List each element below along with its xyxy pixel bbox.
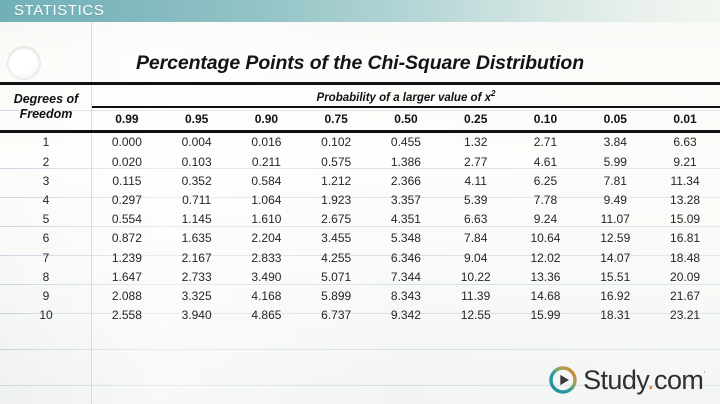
table-cell: 23.21 bbox=[650, 306, 720, 325]
table-cell: 1.610 bbox=[232, 210, 302, 229]
column-header-7: 0.05 bbox=[580, 107, 650, 132]
table-cell: 1.647 bbox=[92, 267, 162, 286]
table-cell: 11.39 bbox=[441, 286, 511, 305]
table-cell: 2.77 bbox=[441, 152, 511, 171]
table-cell: 1.064 bbox=[232, 190, 302, 209]
table-header-spanner-row: Degrees of Freedom Probability of a larg… bbox=[0, 84, 720, 107]
table-cell: 18.48 bbox=[650, 248, 720, 267]
table-cell: 15.09 bbox=[650, 210, 720, 229]
logo-dot: . bbox=[647, 365, 654, 395]
table-cell: 3.940 bbox=[162, 306, 232, 325]
table-row: 20.0200.1030.2110.5751.3862.774.615.999.… bbox=[0, 152, 720, 171]
table-cell: 6.737 bbox=[301, 306, 371, 325]
table-head: Degrees of Freedom Probability of a larg… bbox=[0, 84, 720, 132]
banner-label: STATISTICS bbox=[14, 2, 104, 19]
table-cell: 0.711 bbox=[162, 190, 232, 209]
table-cell: 6.63 bbox=[441, 210, 511, 229]
chi-square-table: Degrees of Freedom Probability of a larg… bbox=[0, 82, 720, 325]
table-cell: 9.49 bbox=[580, 190, 650, 209]
table-cell: 0.115 bbox=[92, 171, 162, 190]
table-cell: 2.733 bbox=[162, 267, 232, 286]
table-cell: 6.63 bbox=[650, 131, 720, 152]
paper-rule-line bbox=[0, 349, 720, 350]
table-cell: 18.31 bbox=[580, 306, 650, 325]
table-cell: 5.899 bbox=[301, 286, 371, 305]
table-cell: 1.635 bbox=[162, 229, 232, 248]
table-cell: 7.81 bbox=[580, 171, 650, 190]
statistics-banner: STATISTICS bbox=[0, 0, 720, 22]
table-column-header-row: 0.99 0.95 0.90 0.75 0.50 0.25 0.10 0.05 … bbox=[0, 107, 720, 132]
table-cell: 0.102 bbox=[301, 131, 371, 152]
table-cell: 8.343 bbox=[371, 286, 441, 305]
table-cell: 0.297 bbox=[92, 190, 162, 209]
table-cell: 4.168 bbox=[232, 286, 302, 305]
table-cell: 7.344 bbox=[371, 267, 441, 286]
table-cell: 5.99 bbox=[580, 152, 650, 171]
table-row: 71.2392.1672.8334.2556.3469.0412.0214.07… bbox=[0, 248, 720, 267]
probability-spanner-text: Probability of a larger value of x bbox=[317, 92, 491, 104]
column-header-3: 0.75 bbox=[301, 107, 371, 132]
table-body: 10.0000.0040.0160.1020.4551.322.713.846.… bbox=[0, 131, 720, 324]
logo-tld: com bbox=[654, 365, 703, 395]
degrees-of-freedom-header: Degrees of Freedom bbox=[0, 84, 92, 132]
table-cell: 2.675 bbox=[301, 210, 371, 229]
degrees-of-freedom-header-line1: Degrees of bbox=[2, 92, 90, 107]
table-cell: 3.325 bbox=[162, 286, 232, 305]
table-cell: 16.81 bbox=[650, 229, 720, 248]
column-header-6: 0.10 bbox=[511, 107, 581, 132]
table-cell: 3.357 bbox=[371, 190, 441, 209]
table-cell: 2.088 bbox=[92, 286, 162, 305]
column-header-2: 0.90 bbox=[232, 107, 302, 132]
table-cell: 0.103 bbox=[162, 152, 232, 171]
table-cell: 2.71 bbox=[511, 131, 581, 152]
table-cell: 2.167 bbox=[162, 248, 232, 267]
table-cell: 3.84 bbox=[580, 131, 650, 152]
table-cell: 4.11 bbox=[441, 171, 511, 190]
degrees-of-freedom-cell: 9 bbox=[0, 286, 92, 305]
table-cell: 0.584 bbox=[232, 171, 302, 190]
logo-trademark: ˙ bbox=[703, 371, 706, 382]
table-cell: 0.575 bbox=[301, 152, 371, 171]
table-row: 40.2970.7111.0641.9233.3575.397.789.4913… bbox=[0, 190, 720, 209]
table-cell: 12.55 bbox=[441, 306, 511, 325]
play-circle-icon bbox=[548, 365, 578, 395]
logo-name: Study bbox=[583, 365, 647, 395]
table-title: Percentage Points of the Chi-Square Dist… bbox=[0, 52, 720, 82]
table-cell: 14.07 bbox=[580, 248, 650, 267]
table-cell: 2.366 bbox=[371, 171, 441, 190]
table-row: 102.5583.9404.8656.7379.34212.5515.9918.… bbox=[0, 306, 720, 325]
study-com-logo: Study.com˙ bbox=[548, 365, 706, 395]
table-cell: 21.67 bbox=[650, 286, 720, 305]
table-cell: 1.923 bbox=[301, 190, 371, 209]
probability-spanner-header: Probability of a larger value of x2 bbox=[92, 84, 720, 107]
table-cell: 2.833 bbox=[232, 248, 302, 267]
table-cell: 3.490 bbox=[232, 267, 302, 286]
column-header-5: 0.25 bbox=[441, 107, 511, 132]
table-cell: 4.865 bbox=[232, 306, 302, 325]
screenshot-root: STATISTICS Percentage Points of the Chi-… bbox=[0, 0, 720, 404]
table-cell: 1.145 bbox=[162, 210, 232, 229]
degrees-of-freedom-cell: 6 bbox=[0, 229, 92, 248]
table-cell: 0.352 bbox=[162, 171, 232, 190]
table-cell: 12.59 bbox=[580, 229, 650, 248]
table-cell: 1.386 bbox=[371, 152, 441, 171]
table-row: 81.6472.7333.4905.0717.34410.2213.3615.5… bbox=[0, 267, 720, 286]
table-cell: 2.204 bbox=[232, 229, 302, 248]
table-cell: 15.99 bbox=[511, 306, 581, 325]
degrees-of-freedom-cell: 5 bbox=[0, 210, 92, 229]
logo-wordmark: Study.com˙ bbox=[583, 367, 706, 394]
table-cell: 9.21 bbox=[650, 152, 720, 171]
table-cell: 0.000 bbox=[92, 131, 162, 152]
table-cell: 1.239 bbox=[92, 248, 162, 267]
table-row: 60.8721.6352.2043.4555.3487.8410.6412.59… bbox=[0, 229, 720, 248]
table-row: 50.5541.1451.6102.6754.3516.639.2411.071… bbox=[0, 210, 720, 229]
table-cell: 1.32 bbox=[441, 131, 511, 152]
table-cell: 10.64 bbox=[511, 229, 581, 248]
table-cell: 0.016 bbox=[232, 131, 302, 152]
column-header-1: 0.95 bbox=[162, 107, 232, 132]
table-cell: 13.36 bbox=[511, 267, 581, 286]
table-row: 92.0883.3254.1685.8998.34311.3914.6816.9… bbox=[0, 286, 720, 305]
table-cell: 11.34 bbox=[650, 171, 720, 190]
table-cell: 15.51 bbox=[580, 267, 650, 286]
table-cell: 10.22 bbox=[441, 267, 511, 286]
column-header-0: 0.99 bbox=[92, 107, 162, 132]
table-cell: 13.28 bbox=[650, 190, 720, 209]
table-row: 10.0000.0040.0160.1020.4551.322.713.846.… bbox=[0, 131, 720, 152]
degrees-of-freedom-cell: 3 bbox=[0, 171, 92, 190]
probability-spanner-superscript: 2 bbox=[491, 89, 495, 98]
degrees-of-freedom-cell: 10 bbox=[0, 306, 92, 325]
chi-square-table-block: Percentage Points of the Chi-Square Dist… bbox=[0, 52, 720, 325]
table-cell: 5.348 bbox=[371, 229, 441, 248]
table-cell: 1.212 bbox=[301, 171, 371, 190]
column-header-8: 0.01 bbox=[650, 107, 720, 132]
degrees-of-freedom-cell: 7 bbox=[0, 248, 92, 267]
table-cell: 12.02 bbox=[511, 248, 581, 267]
table-cell: 0.004 bbox=[162, 131, 232, 152]
table-cell: 7.84 bbox=[441, 229, 511, 248]
table-cell: 4.255 bbox=[301, 248, 371, 267]
table-cell: 16.92 bbox=[580, 286, 650, 305]
table-cell: 6.346 bbox=[371, 248, 441, 267]
degrees-of-freedom-cell: 8 bbox=[0, 267, 92, 286]
table-cell: 14.68 bbox=[511, 286, 581, 305]
table-cell: 4.61 bbox=[511, 152, 581, 171]
table-cell: 7.78 bbox=[511, 190, 581, 209]
table-cell: 9.24 bbox=[511, 210, 581, 229]
degrees-of-freedom-cell: 2 bbox=[0, 152, 92, 171]
table-cell: 0.554 bbox=[92, 210, 162, 229]
table-cell: 4.351 bbox=[371, 210, 441, 229]
table-row: 30.1150.3520.5841.2122.3664.116.257.8111… bbox=[0, 171, 720, 190]
degrees-of-freedom-cell: 4 bbox=[0, 190, 92, 209]
table-cell: 0.455 bbox=[371, 131, 441, 152]
table-cell: 9.04 bbox=[441, 248, 511, 267]
degrees-of-freedom-header-line2: Freedom bbox=[2, 107, 90, 122]
table-cell: 3.455 bbox=[301, 229, 371, 248]
table-cell: 0.020 bbox=[92, 152, 162, 171]
table-cell: 9.342 bbox=[371, 306, 441, 325]
table-cell: 0.872 bbox=[92, 229, 162, 248]
table-cell: 5.071 bbox=[301, 267, 371, 286]
column-header-4: 0.50 bbox=[371, 107, 441, 132]
degrees-of-freedom-cell: 1 bbox=[0, 131, 92, 152]
table-cell: 6.25 bbox=[511, 171, 581, 190]
table-cell: 20.09 bbox=[650, 267, 720, 286]
table-cell: 2.558 bbox=[92, 306, 162, 325]
table-cell: 5.39 bbox=[441, 190, 511, 209]
table-cell: 11.07 bbox=[580, 210, 650, 229]
table-cell: 0.211 bbox=[232, 152, 302, 171]
